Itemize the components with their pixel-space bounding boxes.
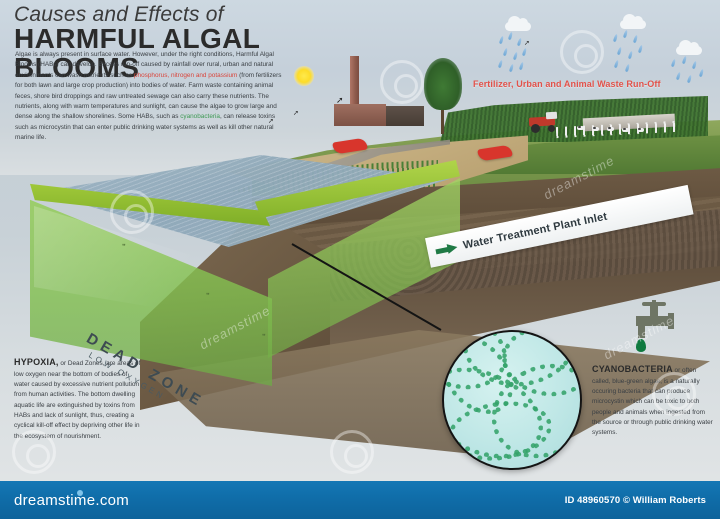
rain-cloud-icon	[620, 20, 646, 29]
dreamstime-logo-text: dreamstime.com	[14, 492, 129, 509]
hypoxia-body: or Dead Zones, are areas of low oxygen n…	[14, 360, 140, 440]
factory-building	[334, 104, 386, 126]
faucet-icon	[630, 300, 686, 350]
cyanobacteria-body: or often called, blue-green algae, is a …	[592, 367, 713, 436]
hypoxia-description: HYPOXIA, or Dead Zones, are areas of low…	[14, 355, 142, 442]
factory-building-annex	[386, 106, 424, 126]
rain-cloud-icon	[676, 46, 702, 55]
green-arrow-icon	[435, 242, 459, 256]
rain-cloud-icon	[505, 22, 531, 31]
logo-dot-icon	[77, 490, 83, 496]
tractor-cab	[546, 112, 557, 120]
footer-bar: dreamstime.com ID 48960570 © William Rob…	[0, 481, 720, 519]
tree-canopy	[424, 58, 462, 110]
cyanobacteria-description: CYANOBACTERIA or often called, blue-gree…	[592, 362, 714, 439]
infographic-canvas: ➚ ➚ ➚ ➚	[0, 0, 720, 519]
intro-nutrients-highlight: phosphorus, nitrogen and potassium	[134, 72, 237, 79]
runoff-label: Fertilizer, Urban and Animal Waste Run-O…	[473, 79, 661, 89]
intro-cyanobacteria-highlight: cyanobacteria	[180, 113, 220, 120]
title-subtitle: Causes and Effects of	[14, 4, 374, 25]
cow-icon	[592, 127, 599, 131]
dreamstime-logo[interactable]: dreamstime.com	[14, 492, 129, 509]
intro-paragraph: Algae is always present in surface water…	[15, 50, 287, 143]
fish-icon: ❞	[122, 243, 126, 251]
bird-icon: ➚	[293, 110, 299, 117]
tractor-wheel	[548, 125, 555, 132]
green-water-drop-icon	[636, 339, 646, 352]
cow-icon	[622, 128, 629, 132]
cyanobacteria-lead: CYANOBACTERIA	[592, 364, 673, 374]
cow-icon	[577, 126, 584, 130]
cow-icon	[637, 128, 644, 132]
magnified-cyanobacteria-circle	[442, 330, 582, 470]
hypoxia-lead: HYPOXIA,	[14, 357, 59, 367]
bird-icon: ➚	[524, 40, 530, 47]
fish-icon: ❞	[262, 333, 266, 341]
image-credit: ID 48960570 © William Roberts	[565, 495, 706, 506]
cow-icon	[607, 127, 614, 131]
fish-icon: ❞	[206, 292, 210, 300]
tractor-wheel	[531, 124, 540, 133]
